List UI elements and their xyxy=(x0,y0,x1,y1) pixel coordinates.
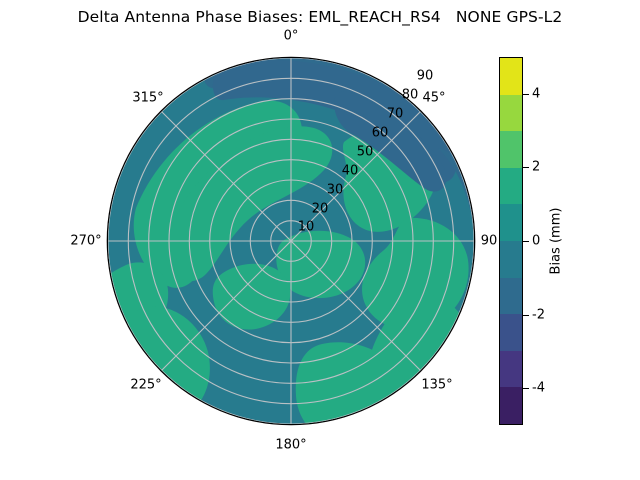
colorbar-ticklabel-0: 0 xyxy=(532,234,540,249)
r-label-50: 50 xyxy=(357,145,374,160)
colorbar-gradient xyxy=(499,57,523,425)
colorbar-tick-4 xyxy=(523,94,529,95)
colorbar-tick-neg2 xyxy=(523,315,529,316)
colorbar-band-3 xyxy=(500,278,522,315)
colorbar-band-6 xyxy=(500,168,522,205)
r-label-20: 20 xyxy=(312,202,329,217)
polar-axes: 0° 45° 90 135° 180° 225° 270° 315° 10 20… xyxy=(108,58,474,424)
theta-label-0: 0° xyxy=(284,29,299,44)
colorbar-band-1 xyxy=(500,351,522,388)
page-title: Delta Antenna Phase Biases: EML_REACH_RS… xyxy=(0,8,640,26)
r-label-70: 70 xyxy=(387,107,404,122)
colorbar-ticklabel-2: 2 xyxy=(532,160,540,175)
theta-label-135: 135° xyxy=(421,378,452,393)
theta-label-90: 90 xyxy=(481,234,498,249)
colorbar-ticklabel-neg2: -2 xyxy=(532,307,545,322)
colorbar-band-2 xyxy=(500,314,522,351)
r-label-10: 10 xyxy=(298,220,315,235)
colorbar-band-7 xyxy=(500,131,522,168)
r-label-90: 90 xyxy=(417,69,434,84)
colorbar-tick-2 xyxy=(523,167,529,168)
polar-contour-plot xyxy=(108,58,474,424)
contour-field xyxy=(108,58,474,424)
r-label-30: 30 xyxy=(327,183,344,198)
colorbar: 4 2 0 -2 -4 xyxy=(499,57,523,425)
colorbar-band-4 xyxy=(500,241,522,278)
theta-label-270: 270° xyxy=(70,234,101,249)
r-label-60: 60 xyxy=(372,126,389,141)
colorbar-band-5 xyxy=(500,204,522,241)
theta-label-315: 315° xyxy=(132,91,163,106)
colorbar-ticklabel-neg4: -4 xyxy=(532,381,545,396)
colorbar-band-9 xyxy=(500,58,522,95)
polar-grid xyxy=(108,58,474,424)
colorbar-band-8 xyxy=(500,95,522,132)
colorbar-tick-neg4 xyxy=(523,388,529,389)
theta-label-45: 45° xyxy=(422,91,445,106)
theta-label-225: 225° xyxy=(130,378,161,393)
colorbar-axis-label: Bias (mm) xyxy=(549,208,564,275)
colorbar-ticklabel-4: 4 xyxy=(532,86,540,101)
theta-label-180: 180° xyxy=(275,438,306,453)
colorbar-tick-0 xyxy=(523,241,529,242)
colorbar-band-0 xyxy=(500,387,522,424)
r-label-80: 80 xyxy=(402,88,419,103)
figure-canvas: Delta Antenna Phase Biases: EML_REACH_RS… xyxy=(0,0,640,480)
r-label-40: 40 xyxy=(342,164,359,179)
